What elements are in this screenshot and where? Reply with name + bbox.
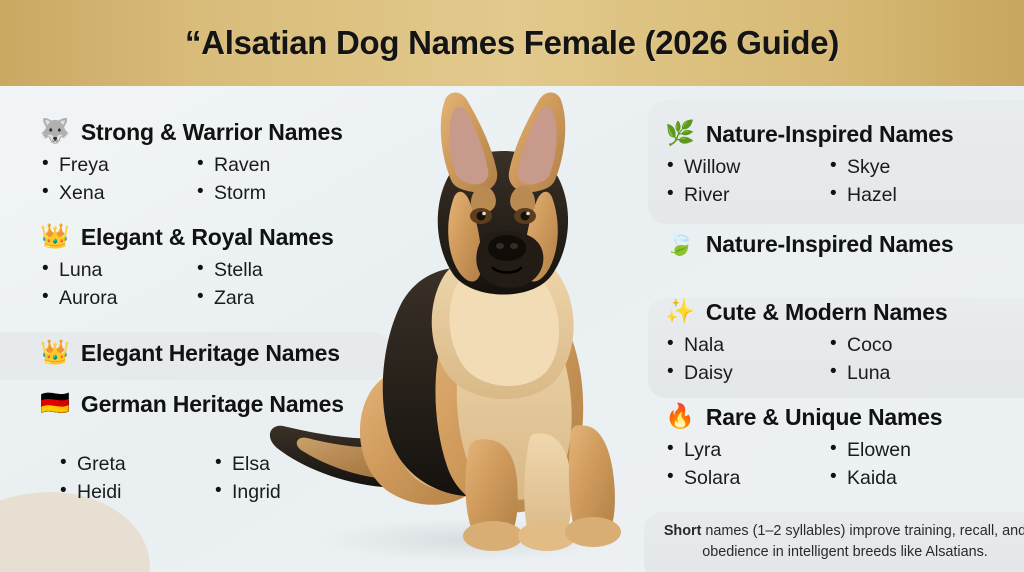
list-item: Solara [665,466,828,491]
list-item: Hazel [828,183,998,208]
section-heading: ✨ Cute & Modern Names [665,300,998,324]
name-list: Lyra Elowen Solara Kaida [665,438,998,491]
list-item: Coco [828,333,998,358]
section-nature-inspired-primary: 🌿 Nature-Inspired Names Willow Skye Rive… [665,122,998,208]
list-item: Willow [665,155,828,180]
list-item: Xena [40,181,195,206]
list-item: River [665,183,828,208]
page-title: “Alsatian Dog Names Female (2026 Guide) [185,24,839,62]
footer-rest: names (1–2 syllables) improve training, … [701,523,1024,560]
list-item: Lyra [665,438,828,463]
section-cute-modern: ✨ Cute & Modern Names Nala Coco Daisy Lu… [665,300,998,386]
list-item: Elowen [828,438,998,463]
german-flag-icon: 🇩🇪 [40,392,70,416]
header-band: “Alsatian Dog Names Female (2026 Guide) [0,0,1024,86]
footer-tip-text: Short names (1–2 syllables) improve trai… [650,521,1024,563]
list-item: Daisy [665,361,828,386]
crown-icon: 👑 [40,225,70,249]
list-item: Kaida [828,466,998,491]
list-item: Aurora [40,286,195,311]
name-list: Willow Skye River Hazel [665,155,998,208]
section-title: Cute & Modern Names [706,301,948,324]
list-item: Heidi [58,480,213,505]
name-list: Nala Coco Daisy Luna [665,333,998,386]
crown-icon: 👑 [40,341,70,365]
section-title: Nature-Inspired Names [706,123,954,146]
infographic-canvas: “Alsatian Dog Names Female (2026 Guide) … [0,0,1024,572]
section-heading: 🔥 Rare & Unique Names [665,405,998,429]
list-item: Greta [58,452,213,477]
section-title: Nature-Inspired Names [706,233,954,256]
section-heading: 🌿 Nature-Inspired Names [665,122,998,146]
list-item: Nala [665,333,828,358]
german-shepherd-dog-illustration [255,88,675,572]
wolf-icon: 🐺 [40,120,70,144]
list-item: Skye [828,155,998,180]
list-item: Luna [40,258,195,283]
section-title: Rare & Unique Names [706,406,943,429]
section-nature-inspired-secondary: 🍃 Nature-Inspired Names [665,232,954,256]
section-heading: 🍃 Nature-Inspired Names [665,232,954,256]
list-item: Luna [828,361,998,386]
section-rare-unique: 🔥 Rare & Unique Names Lyra Elowen Solara… [665,405,998,491]
list-item: Freya [40,153,195,178]
